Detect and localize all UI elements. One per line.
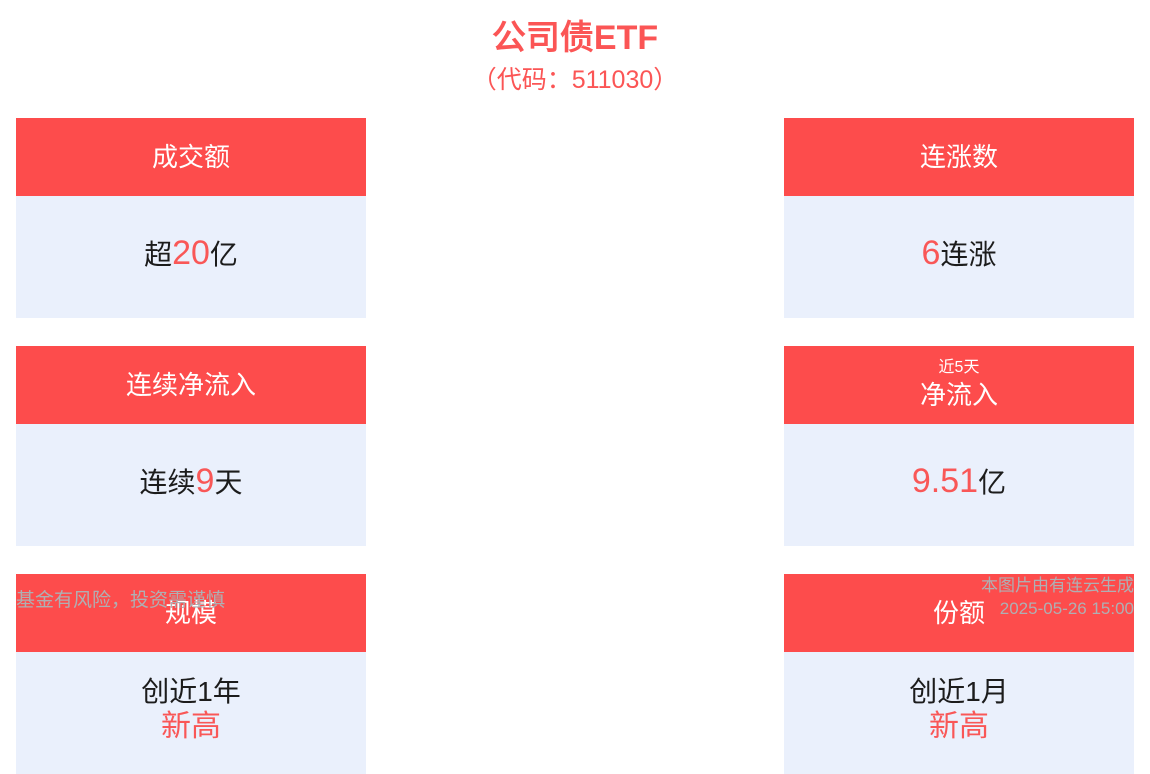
metric-value-line: 6连涨	[922, 233, 997, 274]
metric-value-highlight: 6	[922, 234, 941, 272]
metric-card: 连续净流入连续9天	[16, 346, 366, 546]
credit-source: 本图片由有连云生成	[981, 574, 1134, 597]
metric-value-line: 创近1年	[141, 675, 241, 709]
metric-value-highlight: 新高	[161, 710, 221, 743]
metric-card: 成交额超20亿	[16, 118, 366, 318]
page-title: 公司债ETF	[0, 16, 1150, 60]
metric-value-text: 创近1年	[141, 676, 241, 707]
metric-value-text: 创近1月	[909, 676, 1009, 707]
metric-card-title: 净流入	[920, 378, 998, 412]
metric-card-subtitle: 近5天	[939, 358, 980, 378]
metric-card-body: 9.51亿	[784, 424, 1134, 546]
metric-value-text: 连续	[140, 467, 196, 498]
metric-value-line: 连续9天	[140, 461, 243, 502]
metric-card: 连涨数6连涨	[784, 118, 1134, 318]
metric-card: 近5天净流入9.51亿	[784, 346, 1134, 546]
metric-value-line: 9.51亿	[912, 461, 1006, 502]
metric-card-body: 超20亿	[16, 196, 366, 318]
metric-card-header: 近5天净流入	[784, 346, 1134, 424]
fund-code-label: （代码：511030）	[0, 62, 1150, 98]
title-block: 公司债ETF （代码：511030）	[0, 0, 1150, 98]
metric-card-body: 创近1月新高	[784, 652, 1134, 774]
generation-credit: 本图片由有连云生成 2025-05-26 15:00	[981, 574, 1134, 620]
metric-card-body: 连续9天	[16, 424, 366, 546]
metric-value-text: 亿	[978, 467, 1006, 498]
metric-value-text: 超	[144, 239, 172, 270]
metric-card-grid: 成交额超20亿连涨数6连涨连续净流入连续9天近5天净流入9.51亿规模创近1年新…	[0, 118, 1150, 774]
metric-value-highlight: 20	[172, 234, 210, 272]
metric-card-header: 连涨数	[784, 118, 1134, 196]
risk-disclaimer: 基金有风险，投资需谨慎	[16, 586, 225, 620]
metric-value-line: 新高	[161, 709, 221, 746]
footer: 基金有风险，投资需谨慎 本图片由有连云生成 2025-05-26 15:00	[0, 566, 1150, 620]
metric-value-highlight: 新高	[929, 710, 989, 743]
metric-card-body: 6连涨	[784, 196, 1134, 318]
metric-value-text: 连涨	[940, 239, 996, 270]
metric-card-body: 创近1年新高	[16, 652, 366, 774]
metric-card-title: 成交额	[152, 140, 230, 174]
metric-card-title: 连涨数	[920, 140, 998, 174]
metric-value-highlight: 9	[196, 462, 215, 500]
metric-value-line: 超20亿	[144, 233, 238, 274]
metric-value-text: 亿	[210, 239, 238, 270]
metric-card-header: 连续净流入	[16, 346, 366, 424]
metric-card-header: 成交额	[16, 118, 366, 196]
metric-value-line: 新高	[929, 709, 989, 746]
metric-value-text: 天	[214, 467, 242, 498]
metric-value-line: 创近1月	[909, 675, 1009, 709]
metric-card-title: 连续净流入	[126, 368, 256, 402]
credit-timestamp: 2025-05-26 15:00	[981, 597, 1134, 620]
metric-value-highlight: 9.51	[912, 462, 978, 500]
